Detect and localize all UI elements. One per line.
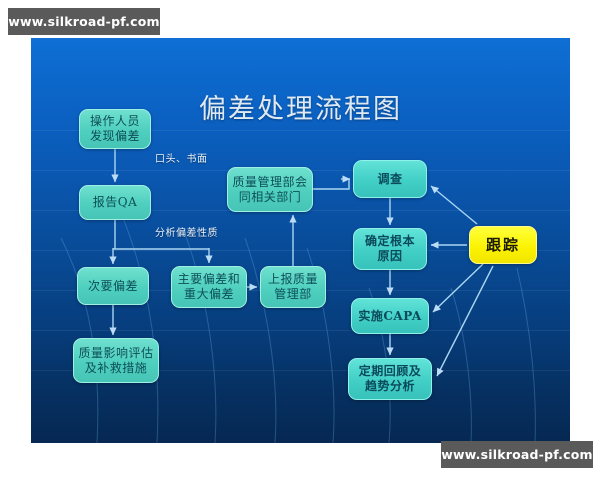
node-report-to-quality-dept[interactable]: 上报质量 管理部 <box>260 266 326 308</box>
node-label: 质量影响评估 及补救措施 <box>78 346 153 376</box>
presentation-slide: 偏差处理流程图 <box>31 38 570 443</box>
node-label: 调查 <box>377 172 402 187</box>
node-operator-finds-deviation[interactable]: 操作人员 发现偏差 <box>79 109 151 149</box>
node-label: 操作人员 发现偏差 <box>90 114 140 144</box>
node-label: 质量管理部会 同相关部门 <box>232 175 307 205</box>
node-major-critical-deviation[interactable]: 主要偏差和 重大偏差 <box>171 266 247 308</box>
watermark-text: www.silkroad-pf.com <box>8 14 160 29</box>
node-quality-impact-assessment[interactable]: 质量影响评估 及补救措施 <box>73 338 159 383</box>
screenshot-canvas: 偏差处理流程图 <box>0 0 600 480</box>
node-label: 上报质量 管理部 <box>268 272 318 302</box>
node-minor-deviation[interactable]: 次要偏差 <box>77 267 149 305</box>
node-label: 跟踪 <box>486 236 520 255</box>
node-label: 报告QA <box>93 195 138 210</box>
node-label: 确定根本 原因 <box>365 234 415 264</box>
watermark-top: www.silkroad-pf.com <box>8 8 160 35</box>
edge-qmd-path <box>313 179 349 189</box>
watermark-bottom: www.silkroad-pf.com <box>441 441 593 468</box>
node-label: 次要偏差 <box>88 279 138 294</box>
node-label: 实施CAPA <box>358 309 421 324</box>
node-determine-root-cause[interactable]: 确定根本 原因 <box>353 228 427 270</box>
node-tracking[interactable]: 跟踪 <box>469 226 537 264</box>
node-label: 主要偏差和 重大偏差 <box>178 272 241 302</box>
node-implement-capa[interactable]: 实施CAPA <box>351 298 429 334</box>
watermark-text: www.silkroad-pf.com <box>441 447 593 462</box>
edge-track-to-investigate <box>431 186 477 224</box>
edge-caption-verbal-written: 口头、书面 <box>155 150 208 165</box>
node-report-qa[interactable]: 报告QA <box>79 185 151 220</box>
node-investigate[interactable]: 调查 <box>353 160 427 198</box>
edge-track-to-review <box>437 266 493 376</box>
node-label: 定期回顾及 趋势分析 <box>359 364 422 394</box>
node-quality-dept-with-related-depts[interactable]: 质量管理部会 同相关部门 <box>227 167 313 212</box>
edge-track-to-capa <box>433 264 483 312</box>
edge-caption-analyze-deviation-nature: 分析偏差性质 <box>155 224 218 239</box>
node-periodic-review-trend-analysis[interactable]: 定期回顾及 趋势分析 <box>348 358 432 400</box>
